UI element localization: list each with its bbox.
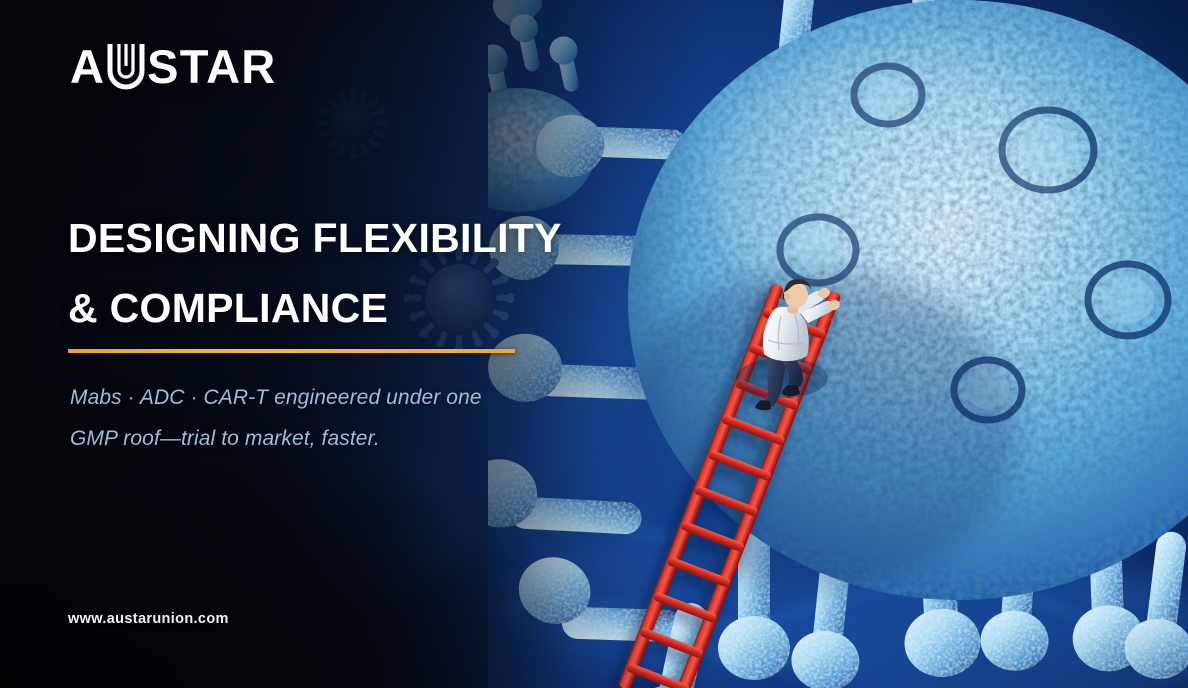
gold-divider: [68, 349, 515, 353]
stylized-u-icon: [106, 42, 146, 90]
austar-logo[interactable]: A STAR: [70, 42, 276, 90]
headline-line-2: & COMPLIANCE: [68, 273, 628, 343]
logo-letters-star: STAR: [147, 43, 276, 90]
vignette-overlay: [0, 0, 1188, 688]
banner-canvas: A STAR DESIGNING FLEXIBILITY & COMPLIANC…: [0, 0, 1188, 688]
logo-letter-a: A: [70, 43, 105, 90]
headline-line-1: DESIGNING FLEXIBILITY: [68, 215, 562, 261]
subtitle-line-2: GMP roof—trial to market, faster.: [70, 418, 570, 459]
subtitle-line-1: Mabs · ADC · CAR-T engineered under one: [70, 386, 482, 409]
subtitle: Mabs · ADC · CAR-T engineered under one …: [70, 377, 570, 459]
website-url[interactable]: www.austarunion.com: [68, 611, 229, 627]
page-title: DESIGNING FLEXIBILITY & COMPLIANCE: [68, 203, 628, 343]
